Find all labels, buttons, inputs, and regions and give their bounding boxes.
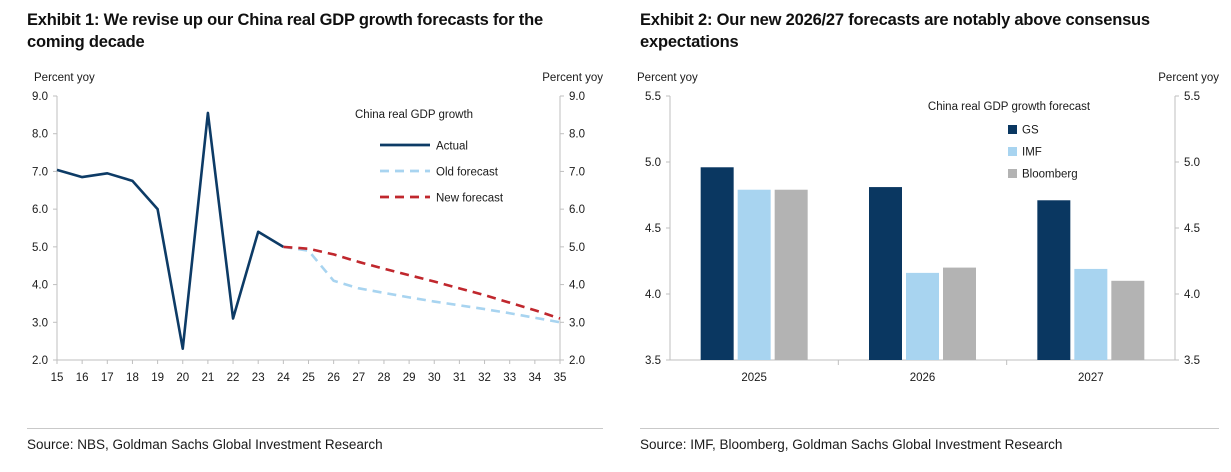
legend-label-old-forecast: Old forecast [436,166,499,178]
bar-imf-2025 [738,190,771,360]
x-tick-label: 29 [403,372,416,384]
y-tick-label: 5.5 [1184,91,1200,103]
x-tick-label: 27 [352,372,365,384]
y-tick-label: 5.0 [645,157,661,169]
exhibit-1-source: Source: NBS, Goldman Sachs Global Invest… [27,437,383,452]
left-axis-unit-label: Percent yoy [637,72,698,84]
bar-bloomberg-2027 [1111,281,1144,360]
bar-chart-gdp-forecast: 3.53.54.04.04.54.55.05.05.55.52025202620… [615,88,1231,398]
x-tick-label: 32 [478,372,491,384]
bar-gs-2025 [701,167,734,360]
series-line-new-forecast [283,247,560,319]
exhibit-1-divider [27,428,603,429]
legend-swatch-imf [1008,147,1017,156]
bar-bloomberg-2025 [775,190,808,360]
x-tick-label: 21 [202,372,215,384]
exhibit-2-title: Exhibit 2: Our new 2026/27 forecasts are… [615,0,1231,54]
y-tick-label: 6.0 [32,204,48,216]
y-tick-label: 8.0 [32,129,48,141]
y-tick-label: 7.0 [32,166,48,178]
bar-gs-2027 [1037,200,1070,360]
y-tick-label: 4.0 [32,279,48,291]
x-tick-label: 30 [428,372,441,384]
y-tick-label: 5.5 [645,91,661,103]
exhibit-1-title: Exhibit 1: We revise up our China real G… [0,0,615,54]
legend-swatch-bloomberg [1008,169,1017,178]
x-tick-label: 19 [151,372,164,384]
x-category-label: 2026 [910,372,936,384]
y-tick-label: 4.5 [1184,223,1200,235]
x-tick-label: 26 [327,372,340,384]
x-tick-label: 33 [503,372,516,384]
x-tick-label: 31 [453,372,466,384]
exhibits-page: Exhibit 1: We revise up our China real G… [0,0,1231,472]
y-tick-label: 5.0 [569,242,585,254]
exhibit-1-plot: 2.02.03.03.04.04.05.05.06.06.07.07.08.08… [0,88,615,398]
x-tick-label: 28 [378,372,391,384]
y-tick-label: 9.0 [569,91,585,103]
y-tick-label: 3.0 [569,317,585,329]
bar-bloomberg-2026 [943,267,976,359]
y-tick-label: 6.0 [569,204,585,216]
y-tick-label: 7.0 [569,166,585,178]
right-axis-unit-label: Percent yoy [542,72,603,84]
legend-swatch-gs [1008,125,1017,134]
x-tick-label: 34 [528,372,541,384]
x-tick-label: 20 [176,372,189,384]
legend-label-bloomberg: Bloomberg [1022,168,1078,180]
x-tick-label: 15 [51,372,64,384]
x-tick-label: 35 [554,372,567,384]
y-tick-label: 9.0 [32,91,48,103]
legend-label-new-forecast: New forecast [436,192,504,204]
exhibit-2-plot: 3.53.54.04.04.54.55.05.05.55.52025202620… [615,88,1231,398]
y-tick-label: 4.5 [645,223,661,235]
y-tick-label: 3.5 [1184,355,1200,367]
legend-label-imf: IMF [1022,146,1042,158]
x-tick-label: 22 [227,372,240,384]
exhibit-2-source: Source: IMF, Bloomberg, Goldman Sachs Gl… [640,437,1062,452]
y-tick-label: 5.0 [1184,157,1200,169]
series-line-old-forecast [283,247,560,322]
y-tick-label: 2.0 [32,355,48,367]
y-tick-label: 4.0 [1184,289,1200,301]
legend-title: China real GDP growth forecast [928,101,1091,113]
y-tick-label: 4.0 [645,289,661,301]
bar-gs-2026 [869,187,902,360]
x-tick-label: 23 [252,372,265,384]
bar-imf-2026 [906,273,939,360]
legend-label-actual: Actual [436,140,468,152]
exhibit-2-axis-units: Percent yoy Percent yoy [615,72,1231,88]
line-chart-china-gdp: 2.02.03.03.04.04.05.05.06.06.07.07.08.08… [0,88,615,398]
x-tick-label: 16 [76,372,89,384]
exhibit-2-divider [640,428,1219,429]
x-tick-label: 24 [277,372,290,384]
y-tick-label: 2.0 [569,355,585,367]
left-axis-unit-label: Percent yoy [34,72,95,84]
exhibit-1-axis-units: Percent yoy Percent yoy [0,72,615,88]
legend-label-gs: GS [1022,124,1039,136]
legend-title: China real GDP growth [355,109,473,121]
y-tick-label: 3.5 [645,355,661,367]
x-category-label: 2027 [1078,372,1104,384]
x-tick-label: 18 [126,372,139,384]
y-tick-label: 5.0 [32,242,48,254]
y-tick-label: 8.0 [569,129,585,141]
x-category-label: 2025 [741,372,767,384]
bar-imf-2027 [1074,269,1107,360]
x-tick-label: 17 [101,372,114,384]
right-axis-unit-label: Percent yoy [1158,72,1219,84]
x-tick-label: 25 [302,372,315,384]
exhibit-1-panel: Exhibit 1: We revise up our China real G… [0,0,615,472]
exhibit-2-panel: Exhibit 2: Our new 2026/27 forecasts are… [615,0,1231,472]
y-tick-label: 3.0 [32,317,48,329]
y-tick-label: 4.0 [569,279,585,291]
series-line-actual [57,113,283,349]
